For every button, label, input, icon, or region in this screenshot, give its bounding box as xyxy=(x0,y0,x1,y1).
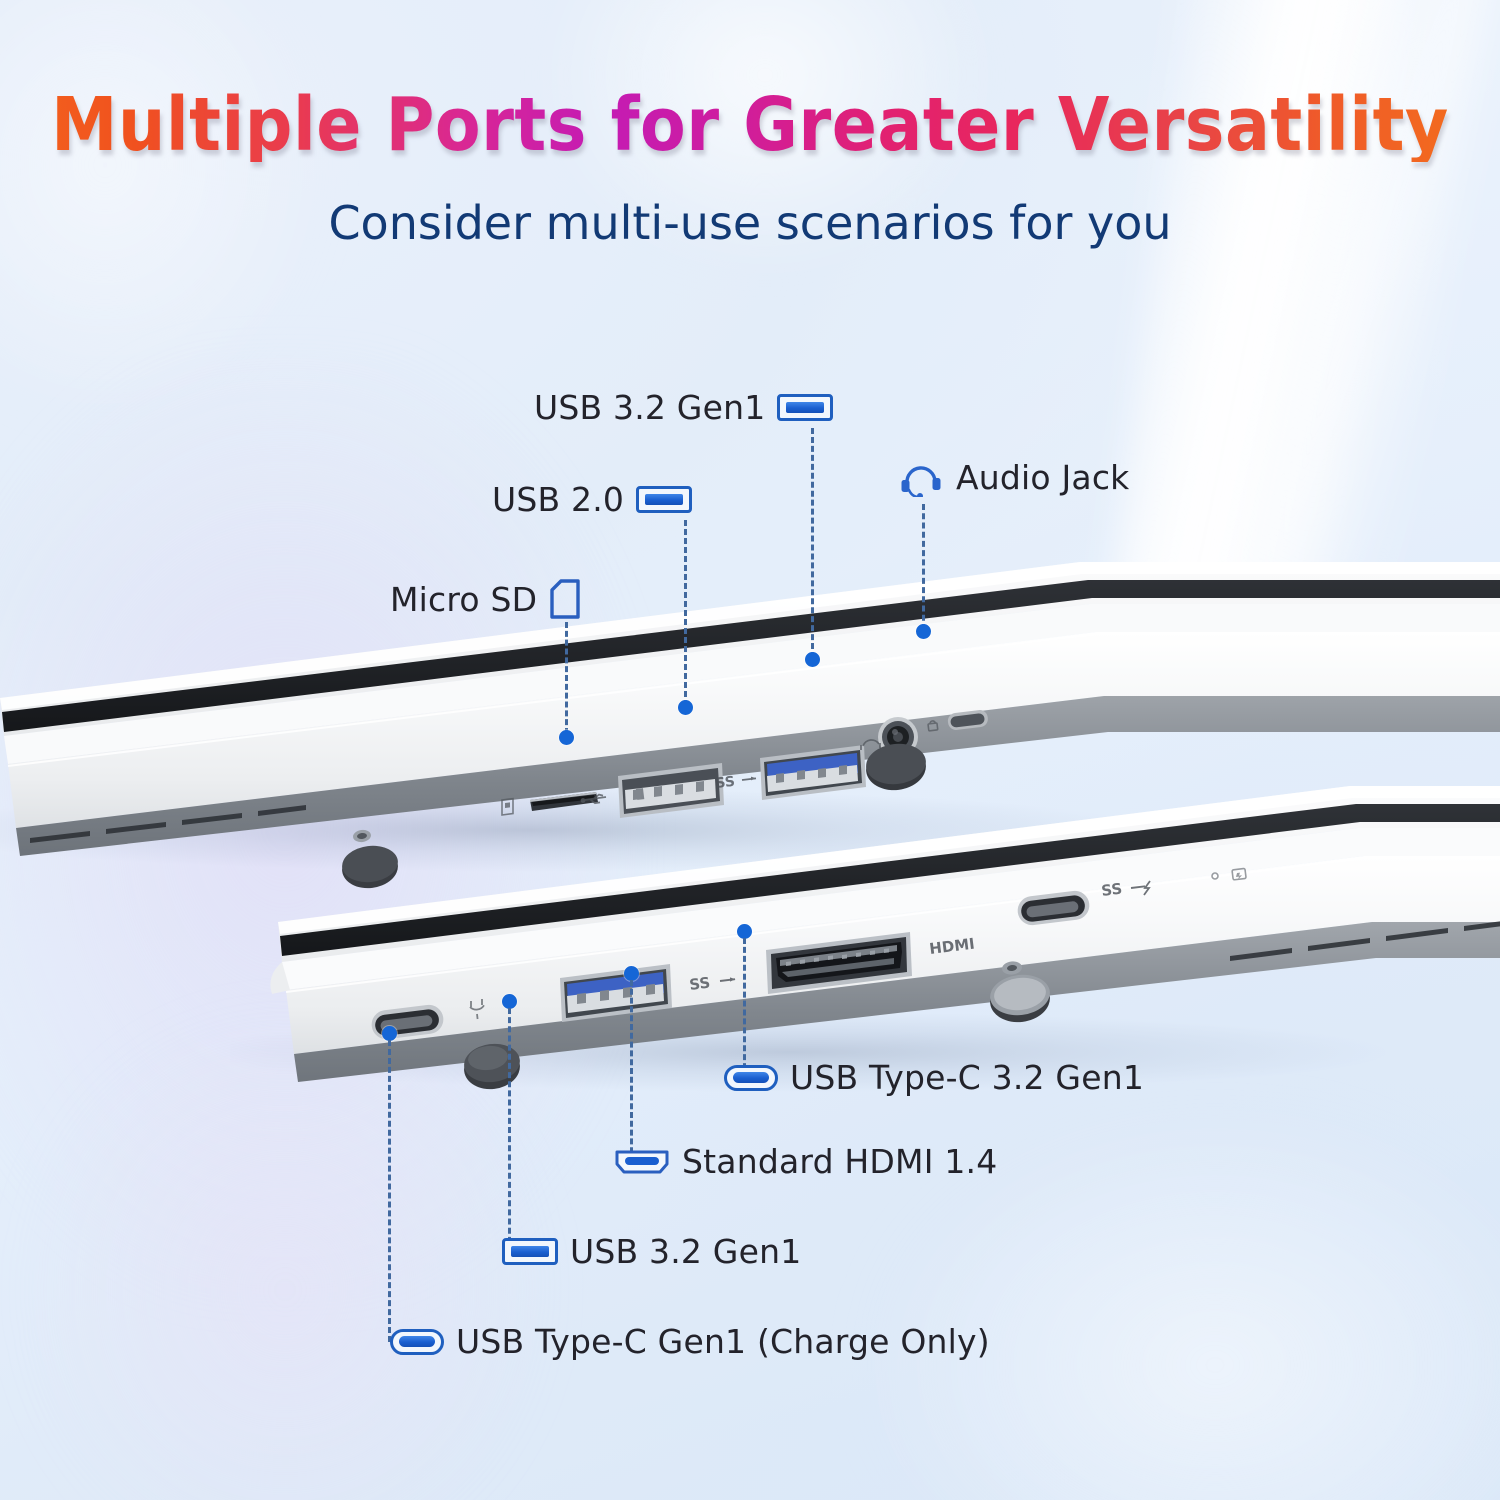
callout-micro-sd[interactable]: Micro SD xyxy=(390,578,581,620)
callout-usb-3-2-gen1-bottom[interactable]: USB 3.2 Gen1 xyxy=(502,1232,801,1271)
leader-hdmi xyxy=(630,980,633,1162)
svg-text:SS: SS xyxy=(688,974,711,994)
dot-hdmi xyxy=(624,966,639,981)
callout-usb-2-0[interactable]: USB 2.0 xyxy=(492,480,692,519)
leader-audio-jack xyxy=(922,504,925,630)
dot-usb-c-3-2 xyxy=(737,924,752,939)
leader-usb-c-3-2 xyxy=(743,938,746,1078)
page-title: Multiple Ports for Greater Versatility xyxy=(0,88,1500,162)
callout-label-usb-3-2-gen1-top: USB 3.2 Gen1 xyxy=(534,388,765,427)
hdmi-icon xyxy=(614,1148,670,1175)
callout-usb-3-2-gen1-top[interactable]: USB 3.2 Gen1 xyxy=(534,388,833,427)
usb-a-icon xyxy=(777,394,833,421)
callout-label-usb-2-0: USB 2.0 xyxy=(492,480,624,519)
callout-label-hdmi: Standard HDMI 1.4 xyxy=(682,1142,997,1181)
callout-hdmi[interactable]: Standard HDMI 1.4 xyxy=(614,1142,997,1181)
leader-micro-sd xyxy=(565,622,568,734)
dot-usb-3-2-top xyxy=(805,652,820,667)
callout-usb-c-charge-only[interactable]: USB Type-C Gen1 (Charge Only) xyxy=(390,1322,990,1361)
dot-usb-3-2-bottom xyxy=(502,994,517,1009)
dot-usb-2-0 xyxy=(678,700,693,715)
micro-sd-icon xyxy=(549,578,581,620)
leader-usb-3-2-top xyxy=(811,428,814,658)
dot-micro-sd xyxy=(559,730,574,745)
callout-label-usb-c-3-2-gen1: USB Type-C 3.2 Gen1 xyxy=(790,1058,1144,1097)
usb-c-icon xyxy=(724,1065,778,1091)
callout-usb-c-3-2-gen1[interactable]: USB Type-C 3.2 Gen1 xyxy=(724,1058,1144,1097)
leader-usb-3-2-bottom xyxy=(508,1008,511,1252)
dot-audio-jack xyxy=(916,624,931,639)
leader-usb-2-0 xyxy=(684,520,687,706)
bottom-laptop-illustration: SS HDMI xyxy=(230,700,1500,1120)
usb-a-icon xyxy=(636,486,692,513)
infographic-canvas: Multiple Ports for Greater Versatility C… xyxy=(0,0,1500,1500)
page-subtitle: Consider multi-use scenarios for you xyxy=(0,196,1500,250)
callout-label-usb-3-2-gen1-bottom: USB 3.2 Gen1 xyxy=(570,1232,801,1271)
dot-usb-c-charge xyxy=(382,1026,397,1041)
callout-label-usb-c-charge-only: USB Type-C Gen1 (Charge Only) xyxy=(456,1322,990,1361)
audio-jack-icon xyxy=(898,459,944,497)
callout-label-micro-sd: Micro SD xyxy=(390,580,537,619)
usb-c-icon xyxy=(390,1329,444,1355)
leader-usb-c-charge xyxy=(388,1040,391,1342)
usb-a-icon xyxy=(502,1238,558,1265)
svg-text:SS: SS xyxy=(1100,880,1123,900)
callout-audio-jack[interactable]: Audio Jack xyxy=(898,458,1130,497)
callout-label-audio-jack: Audio Jack xyxy=(956,458,1130,497)
